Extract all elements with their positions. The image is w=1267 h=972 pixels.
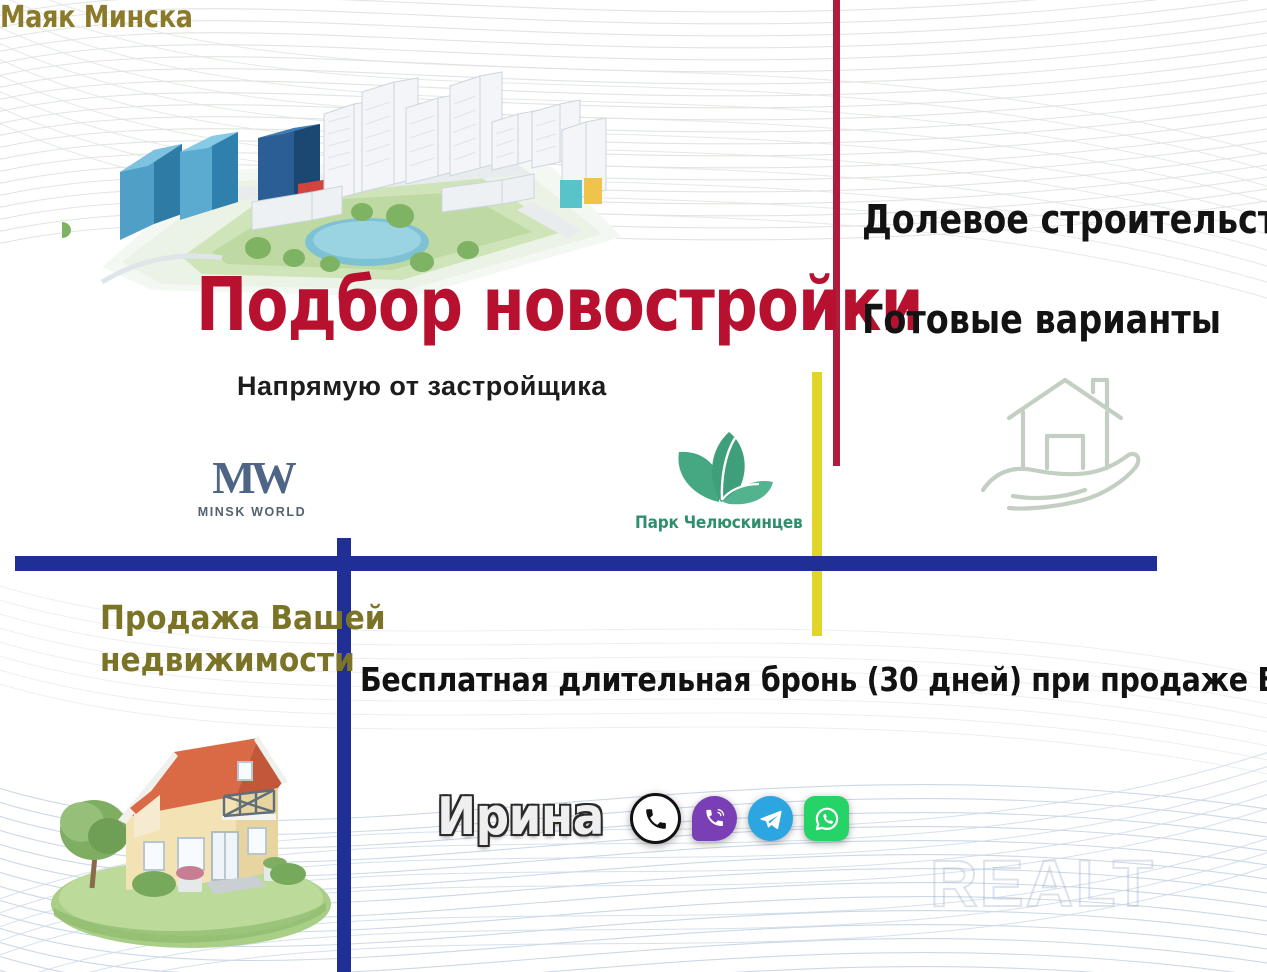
phone-icon[interactable] (630, 793, 681, 844)
divider-crimson-vertical (833, 0, 840, 466)
divider-blue-horizontal (15, 556, 1157, 571)
offer-line-shared-construction: Долевое строительство (862, 197, 1267, 243)
cottage-illustration (26, 718, 346, 956)
house-in-hand-icon (965, 372, 1165, 522)
viber-icon[interactable] (692, 796, 737, 841)
mw-monogram-icon: MW (188, 455, 316, 501)
developer-logo-minsk-world[interactable]: MW MINSK WORLD (188, 455, 316, 519)
agent-name: Ирина (437, 787, 604, 847)
resale-line-1: Продажа Вашей (100, 597, 386, 639)
resale-line-2: недвижимости (100, 639, 386, 681)
developer-logo-mayak-minska[interactable]: Маяк Минска (0, 0, 152, 35)
promo-text: Бесплатная длительная бронь (30 дней) пр… (360, 660, 1267, 699)
resale-heading: Продажа Вашей недвижимости (100, 597, 386, 681)
developer-name-minsk-world: MINSK WORLD (188, 505, 316, 519)
realt-watermark: REALT (930, 845, 1155, 921)
developer-name-park-chelyuskincev: Парк Челюскинцев (635, 513, 800, 533)
leaf-icon (659, 424, 777, 506)
page-title: Подбор новостройки (196, 268, 923, 342)
developer-logo-park-chelyuskincev[interactable]: Парк Челюскинцев (635, 424, 800, 533)
divider-yellow-vertical (812, 372, 822, 636)
offer-line-ready-options: Готовые варианты (862, 297, 1221, 343)
page-subtitle: Напрямую от застройщика (237, 371, 607, 402)
whatsapp-icon[interactable] (804, 796, 849, 841)
messenger-icons (630, 793, 849, 844)
poster-canvas: Подбор новостройки Напрямую от застройщи… (0, 0, 1267, 972)
telegram-icon[interactable] (748, 796, 793, 841)
